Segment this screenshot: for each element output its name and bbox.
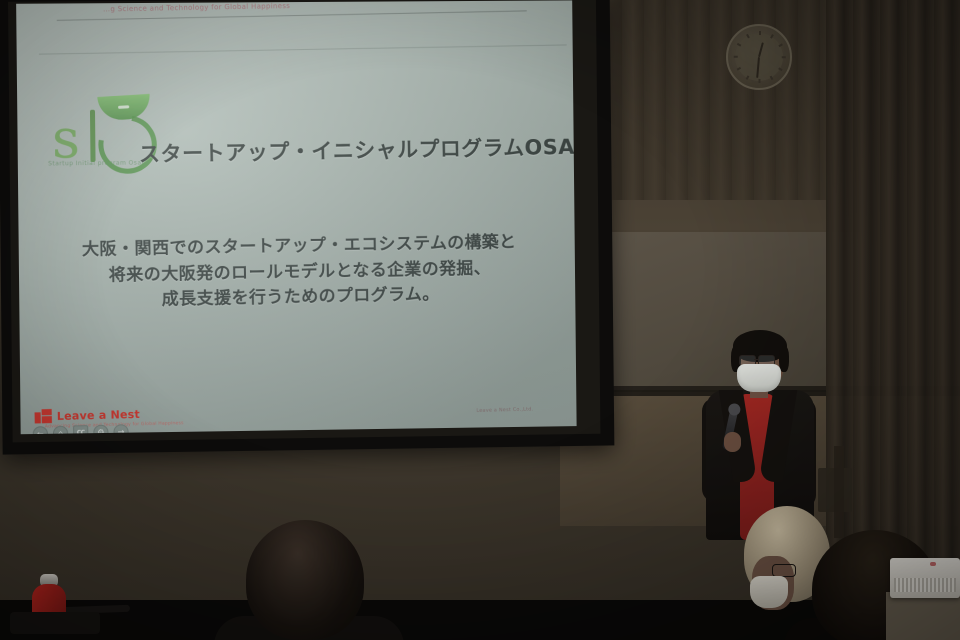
presenter-glasses-bridge bbox=[754, 359, 758, 360]
presenter-face-mask bbox=[737, 364, 781, 392]
sio-logo-subtitle: Startup Initial program Osaka bbox=[48, 159, 149, 167]
audience-member-head bbox=[246, 520, 364, 640]
sio-letter-s: s bbox=[52, 112, 81, 167]
slide-copyright: Leave a Nest Co.,Ltd. bbox=[476, 407, 533, 414]
slide-header-tagline: …g Science and Technology for Global Hap… bbox=[103, 2, 290, 13]
slide-footer-icons: ← ⌂ CC ⚙ → bbox=[33, 424, 129, 434]
slide-divider-rule bbox=[39, 44, 567, 54]
leave-a-nest-name: Leave a Nest bbox=[57, 408, 140, 423]
projector bbox=[890, 558, 960, 598]
slide-title: スタートアップ・イニシャルプログラムOSAKA bbox=[138, 130, 576, 168]
equipment-stand bbox=[834, 446, 844, 538]
wall-clock-icon bbox=[726, 24, 792, 90]
presentation-slide: …g Science and Technology for Global Hap… bbox=[16, 0, 576, 434]
projector-indicator bbox=[930, 562, 936, 566]
slide-body-text: 大阪・関西でのスタートアップ・エコシステムの構築と 将来の大阪発のロールモデルと… bbox=[49, 230, 550, 316]
curtain-secondary bbox=[600, 0, 830, 200]
settings-icon: ⚙ bbox=[93, 425, 108, 435]
home-icon: ⌂ bbox=[53, 426, 68, 435]
sio-letter-i bbox=[90, 110, 96, 162]
extinguisher-base bbox=[10, 612, 100, 634]
back-arrow-icon: ← bbox=[33, 426, 48, 434]
leave-a-nest-mark-icon bbox=[34, 409, 51, 424]
side-table bbox=[886, 592, 960, 640]
projection-screen: …g Science and Technology for Global Hap… bbox=[0, 0, 614, 455]
closed-caption-icon: CC bbox=[73, 425, 88, 434]
presenter-hair-side-right bbox=[779, 346, 789, 372]
lecture-hall-scene: …g Science and Technology for Global Hap… bbox=[0, 0, 960, 640]
presenter-hand bbox=[724, 432, 741, 452]
audience-face-mask bbox=[750, 576, 788, 608]
